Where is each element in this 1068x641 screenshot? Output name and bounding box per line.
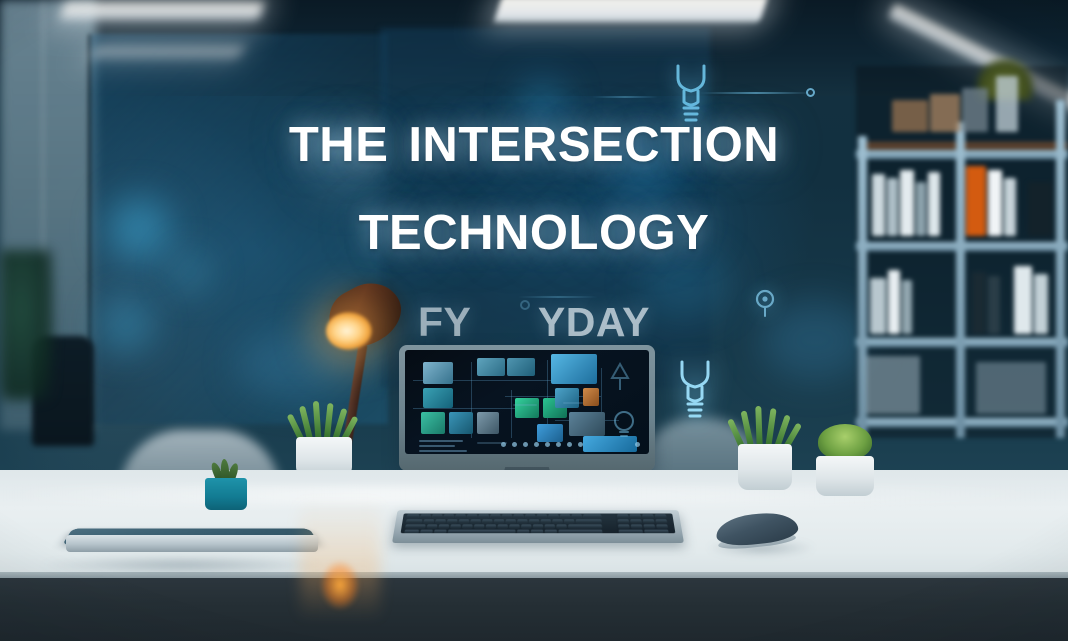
lamp-bulb [326, 312, 372, 350]
dashboard-tile [421, 412, 445, 434]
cup [205, 478, 247, 510]
dashboard-tile [583, 388, 599, 406]
headline-line-1: The Intersection [0, 101, 1068, 173]
taskbar-dot [512, 442, 517, 447]
dashboard-tile [477, 358, 505, 376]
dashboard-tile [507, 358, 535, 376]
taskbar-dot [567, 442, 572, 447]
dashboard-tile [537, 424, 563, 442]
desk-edge [0, 578, 1068, 641]
taskbar-dot [545, 442, 550, 447]
dashboard-tile [477, 412, 499, 434]
laptop-base [66, 535, 318, 552]
taskbar-dot [578, 442, 583, 447]
lamp-desk-glow [320, 560, 360, 610]
taskbar-dot [534, 442, 539, 447]
headline-line-3-part-a: Fy [418, 284, 471, 349]
taskbar-dot [635, 442, 640, 447]
plant-foliage [818, 424, 872, 460]
plant-pot [738, 444, 792, 490]
monitor-screen[interactable] [405, 350, 649, 454]
headline-line-3: Fy yday [0, 287, 1068, 347]
taskbar-dot [523, 442, 528, 447]
wireless-mouse[interactable] [716, 514, 798, 552]
dashboard-tile [423, 362, 453, 384]
dashboard-tile [555, 388, 579, 408]
mouse-body[interactable] [715, 510, 800, 548]
potted-plant-left [296, 405, 352, 477]
succulent-cup [205, 462, 247, 510]
potted-plant-right-a [738, 410, 792, 490]
potted-plant-right-b [816, 424, 874, 496]
laptop[interactable] [62, 511, 320, 559]
taskbar-dot [556, 442, 561, 447]
plant-pot [816, 456, 874, 496]
dashboard-tile [569, 412, 605, 436]
headline-line-3-part-b: yday [538, 284, 650, 349]
dashboard-tile [515, 398, 539, 418]
keyboard[interactable] [392, 510, 684, 543]
dashboard-tile [551, 354, 597, 384]
headline-line-2: Technology [0, 189, 1068, 261]
desk-sheen [0, 486, 1068, 504]
dashboard-tile [449, 412, 473, 434]
banner-stage: The Intersection Technology Fy yday [0, 0, 1068, 641]
taskbar-dot [501, 442, 506, 447]
dashboard-tile [423, 388, 453, 408]
numpad-area[interactable] [615, 513, 674, 533]
